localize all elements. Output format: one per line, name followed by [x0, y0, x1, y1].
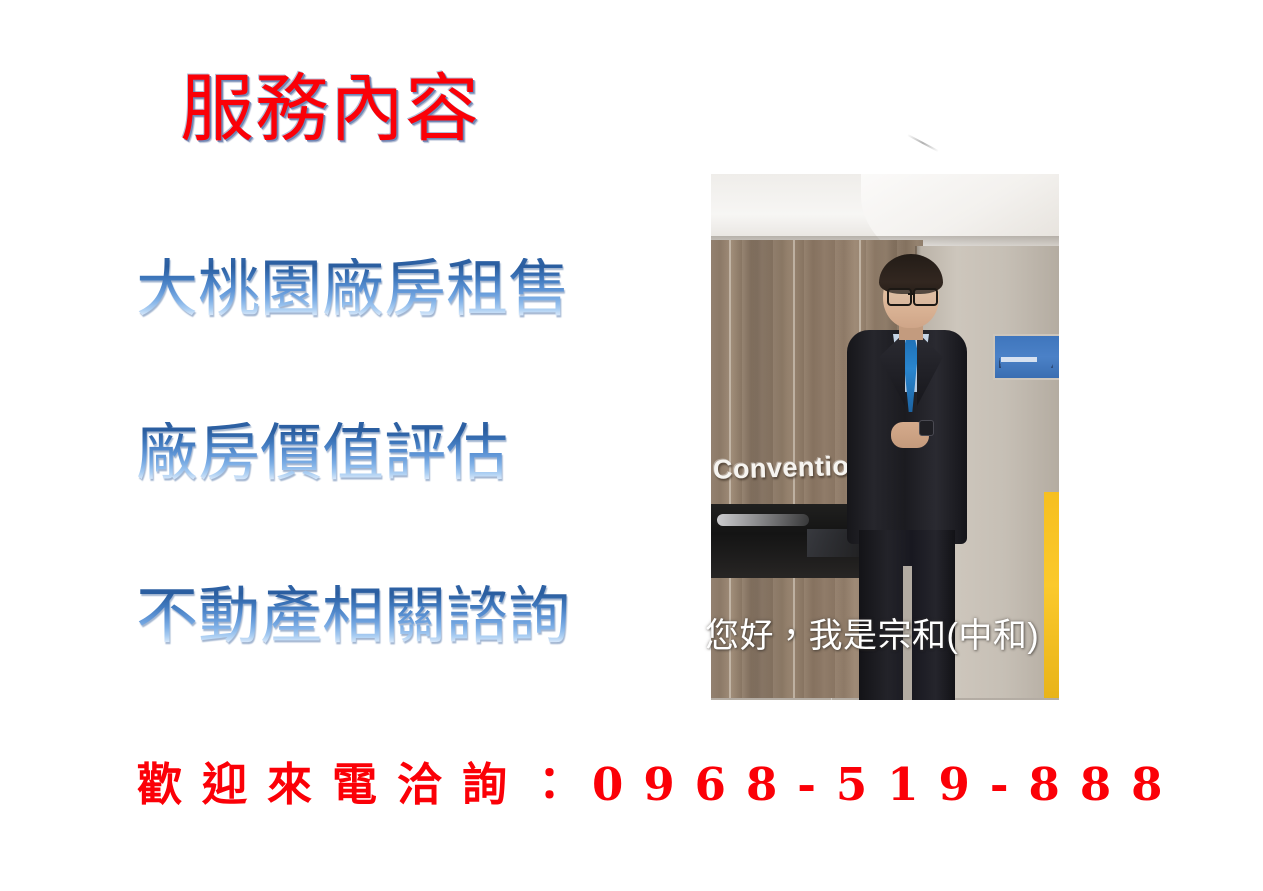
light-streak-artifact [908, 134, 939, 151]
contact-phone-number: 0968-519-888 [592, 758, 1182, 811]
photo-counter-glint [717, 514, 809, 526]
photo-yellow-accent-strip [1044, 492, 1059, 700]
photo-floor-tile-line [831, 698, 832, 700]
photo-caption: 您好，我是宗和(中和) [705, 608, 1039, 657]
presentation-slide: 服務內容 大桃園廠房租售 廠房價值評估 不動產相關諮詢 Convention C… [0, 0, 1263, 891]
photo-person-glasses-left-lens [887, 288, 912, 306]
photo-person-glasses-right-lens [913, 288, 938, 306]
service-item-factory-rental: 大桃園廠房租售 [136, 258, 570, 320]
photo-person-wristwatch [919, 420, 934, 436]
photo-poster-artwork [999, 342, 1053, 368]
photo-poster-highlight [1001, 357, 1037, 362]
page-title: 服務內容 [180, 72, 480, 146]
service-item-consulting: 不動產相關諮詢 [136, 585, 570, 647]
contact-label: 歡迎來電洽詢： [137, 758, 592, 811]
photo-person-glasses-bridge [908, 293, 913, 295]
contact-line: 歡迎來電洽詢：0968-519-888 [137, 748, 1182, 813]
service-item-valuation: 廠房價值評估 [136, 422, 508, 484]
